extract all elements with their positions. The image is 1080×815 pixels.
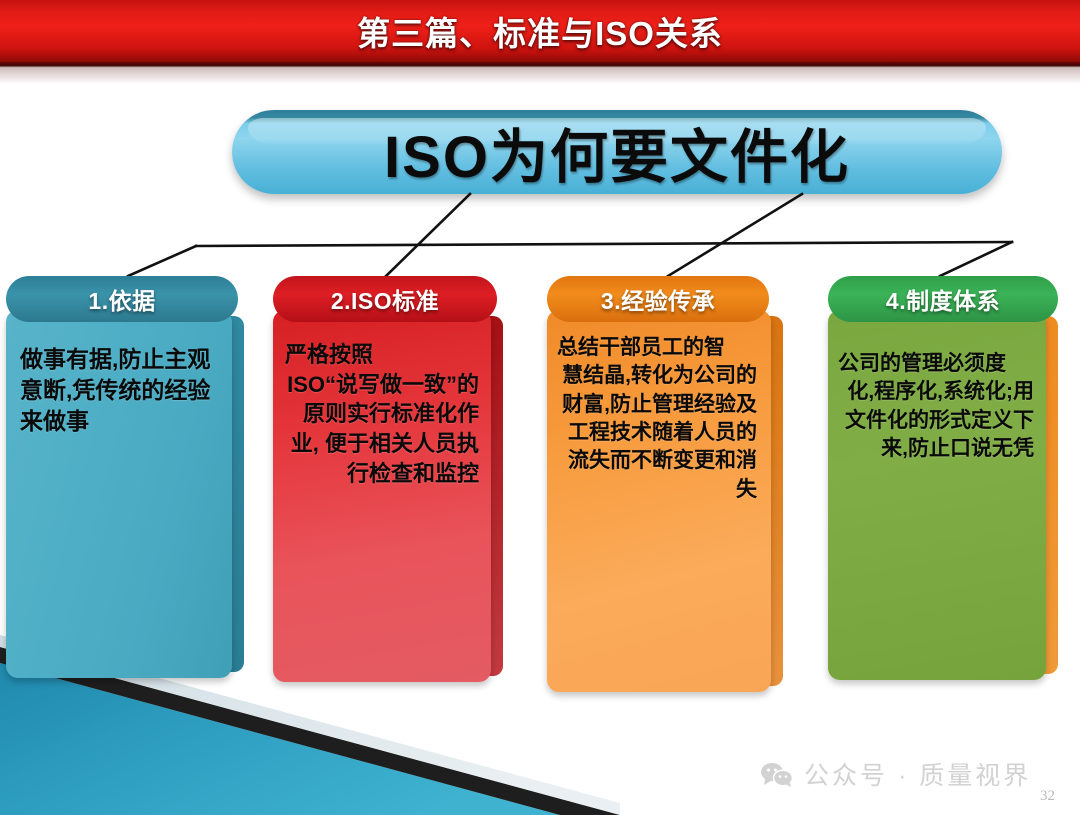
- connector-drop-4: [940, 242, 1012, 276]
- connector-title-left: [386, 194, 470, 276]
- connector-title-right: [668, 194, 802, 276]
- card-2-first-line: 严格按照: [285, 340, 479, 370]
- connector-drop-1: [128, 246, 196, 276]
- card-1-body-text: 做事有据,防止主观意断,凭传统的经验来做事: [6, 310, 232, 437]
- card-4-body: 公司的管理必须度化,程序化,系统化;用文件化的形式定义下来,防止口说无凭: [828, 310, 1046, 680]
- card-3-experience[interactable]: 总结干部员工的智慧结晶,转化为公司的财富,防止管理经验及工程技术随着人员的流失而…: [547, 276, 793, 678]
- card-3-first-line: 总结干部员工的智: [557, 334, 757, 362]
- wechat-icon: [760, 761, 794, 787]
- card-2-iso-standard[interactable]: 严格按照ISO“说写做一致”的原则实行标准化作业, 便于相关人员执行检查和监控 …: [273, 276, 509, 678]
- card-1-依据[interactable]: 做事有据,防止主观意断,凭传统的经验来做事 1.依据: [6, 276, 242, 678]
- card-2-body: 严格按照ISO“说写做一致”的原则实行标准化作业, 便于相关人员执行检查和监控: [273, 310, 491, 682]
- card-1-header[interactable]: 1.依据: [6, 276, 238, 322]
- watermark-text: 公众号 · 质量视界: [804, 756, 1031, 792]
- card-2-header[interactable]: 2.ISO标准: [273, 276, 497, 322]
- card-4-rest-text: 化,程序化,系统化;用文件化的形式定义下来,防止口说无凭: [845, 380, 1034, 460]
- card-3-header[interactable]: 3.经验传承: [547, 276, 769, 322]
- card-2-rest-text: ISO“说写做一致”的原则实行标准化作业, 便于相关人员执行检查和监控: [287, 372, 479, 486]
- card-1-body: 做事有据,防止主观意断,凭传统的经验来做事: [6, 310, 232, 678]
- card-2-body-text: 严格按照ISO“说写做一致”的原则实行标准化作业, 便于相关人员执行检查和监控: [273, 310, 491, 488]
- header-banner-title: 第三篇、标准与ISO关系: [0, 0, 1080, 62]
- card-4-system[interactable]: 公司的管理必须度化,程序化,系统化;用文件化的形式定义下来,防止口说无凭 4.制…: [828, 276, 1074, 678]
- card-4-header[interactable]: 4.制度体系: [828, 276, 1058, 322]
- connector-horizontal: [196, 242, 1012, 246]
- card-4-body-text: 公司的管理必须度化,程序化,系统化;用文件化的形式定义下来,防止口说无凭: [828, 310, 1046, 463]
- page-number: 32: [1040, 788, 1055, 805]
- slide-canvas: 第三篇、标准与ISO关系 ISO为何要文件化 做事有据,防止主观意断,凭传统的经…: [0, 0, 1080, 815]
- watermark: 公众号 · 质量视界: [760, 756, 1031, 792]
- card-3-body-text: 总结干部员工的智慧结晶,转化为公司的财富,防止管理经验及工程技术随着人员的流失而…: [547, 310, 771, 504]
- card-3-rest-text: 慧结晶,转化为公司的财富,防止管理经验及工程技术随着人员的流失而不断变更和消失: [562, 364, 757, 500]
- card-4-first-line: 公司的管理必须度: [838, 350, 1034, 378]
- card-3-body: 总结干部员工的智慧结晶,转化为公司的财富,防止管理经验及工程技术随着人员的流失而…: [547, 310, 771, 692]
